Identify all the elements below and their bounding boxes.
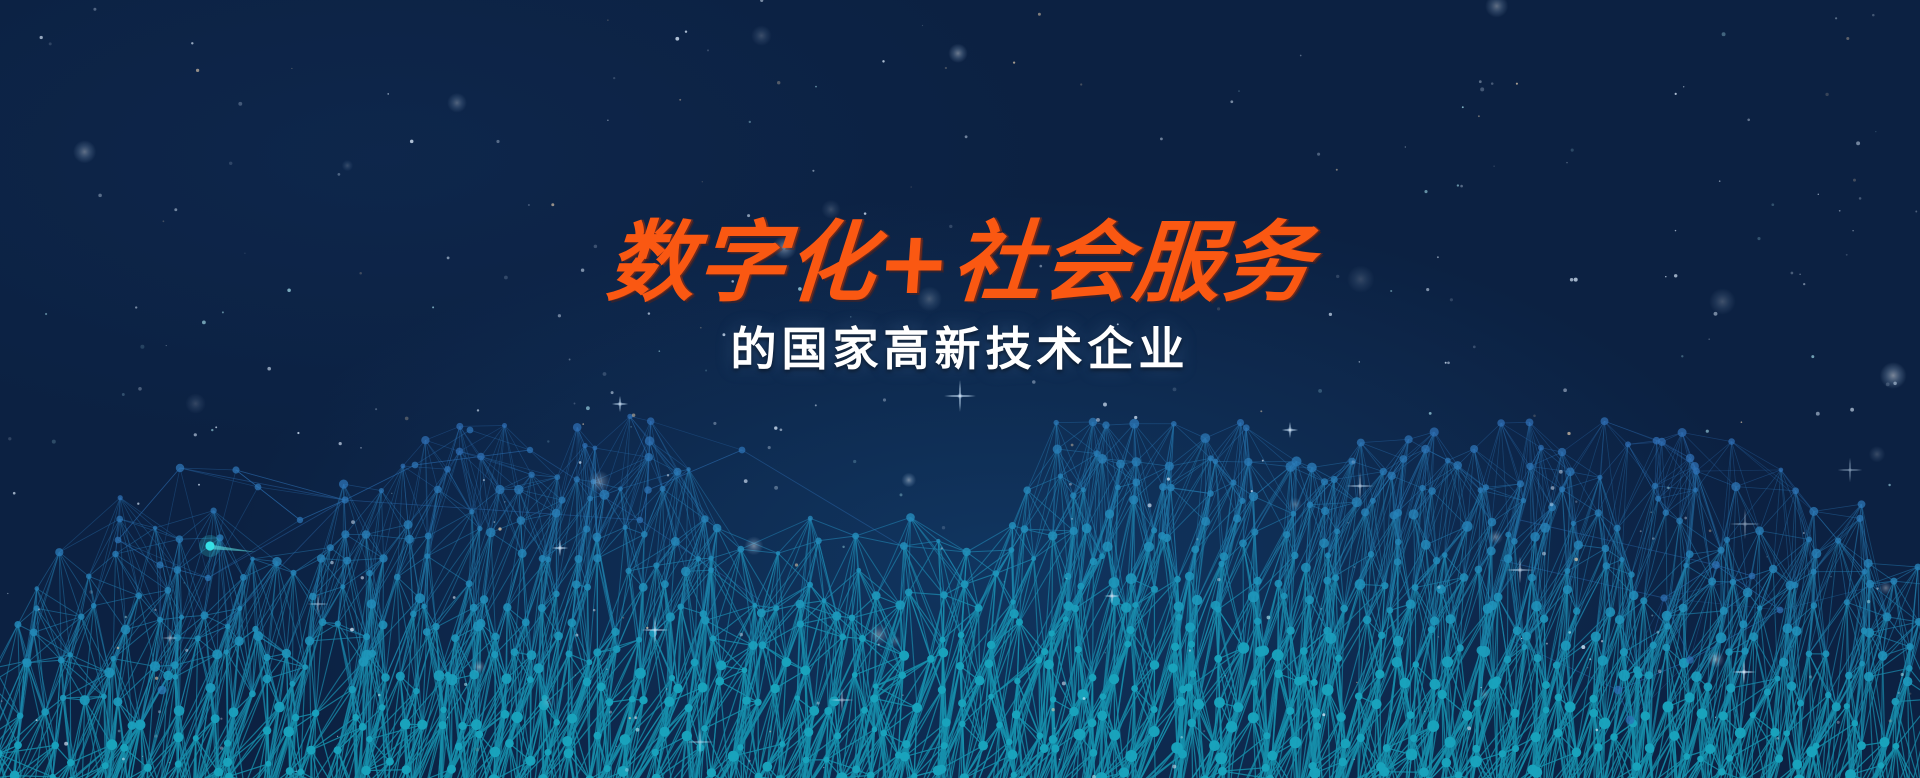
hero-subheadline: 的国家高新技术企业 [0,324,1920,375]
hero-text-block: 数字化+社会服务 的国家高新技术企业 [0,218,1920,374]
starfield [0,0,1920,778]
hero-banner: 数字化+社会服务 的国家高新技术企业 [0,0,1920,778]
hero-headline: 数字化+社会服务 [0,218,1920,308]
